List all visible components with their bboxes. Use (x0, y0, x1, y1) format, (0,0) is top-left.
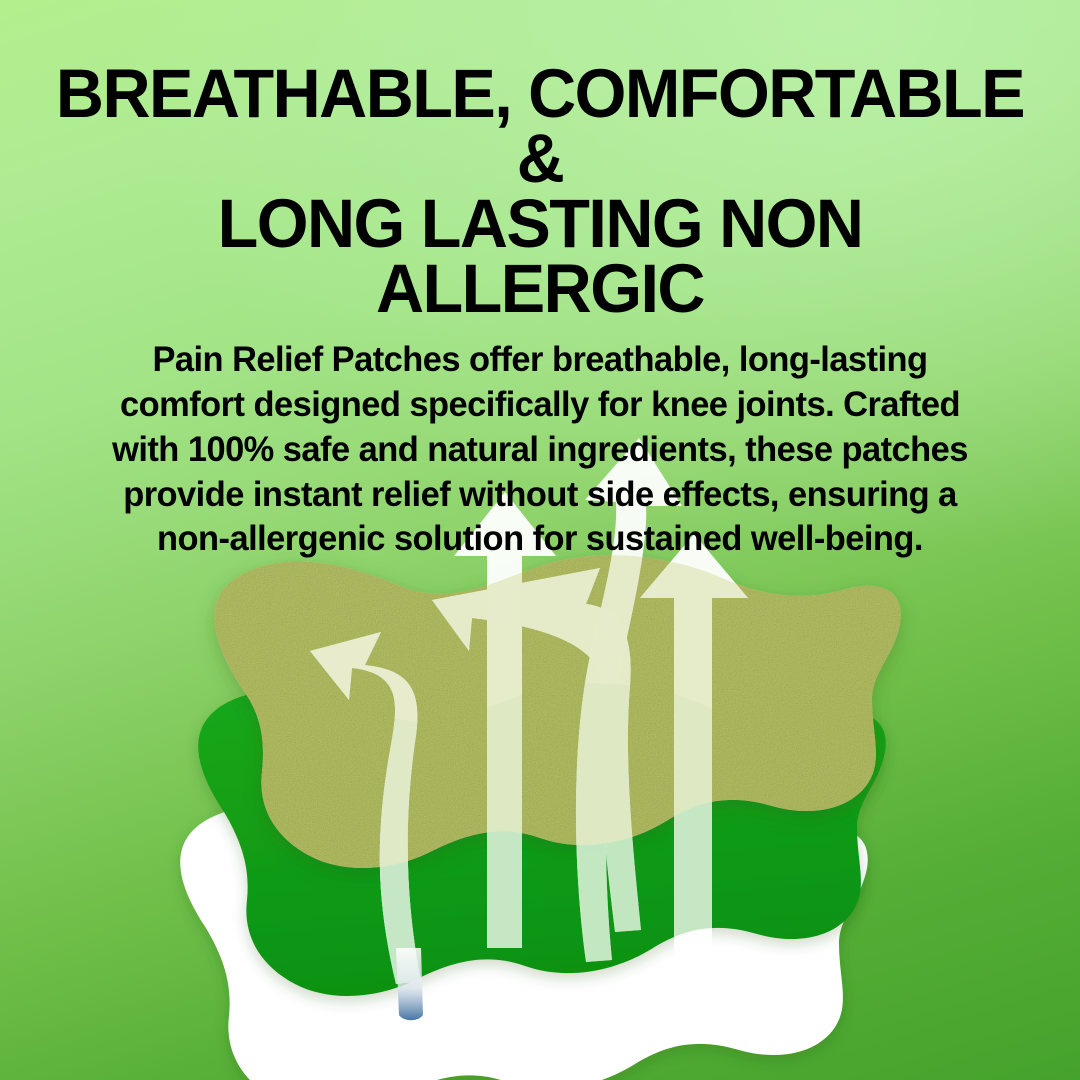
product-infographic-poster: BREATHABLE, COMFORTABLE & LONG LASTING N… (0, 0, 1080, 1080)
body-paragraph: Pain Relief Patches offer breathable, lo… (89, 337, 991, 561)
page-title: BREATHABLE, COMFORTABLE & LONG LASTING N… (54, 62, 1027, 321)
headline-and-body-block: BREATHABLE, COMFORTABLE & LONG LASTING N… (0, 62, 1080, 561)
